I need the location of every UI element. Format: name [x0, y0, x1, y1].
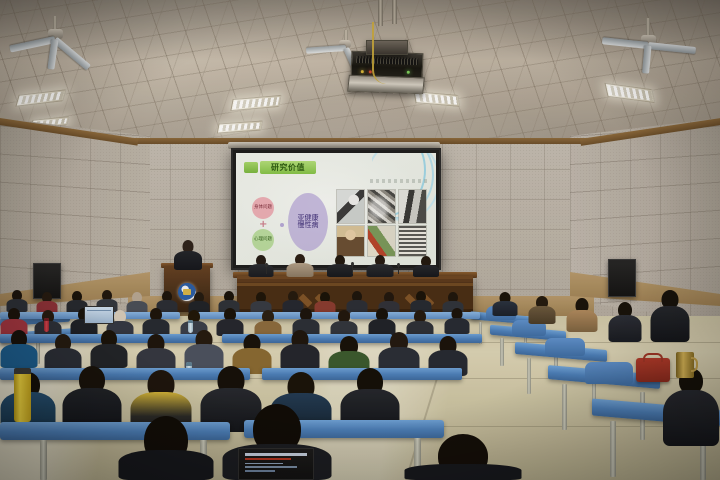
audience-member	[662, 368, 720, 446]
fan-blade	[648, 42, 696, 54]
water-bottle	[44, 318, 49, 332]
wall-speaker-right	[608, 259, 636, 297]
slide-circle-physical: 身体问题	[252, 197, 274, 219]
panelist	[286, 254, 314, 277]
slide-photo	[336, 225, 365, 257]
fan-blade	[9, 36, 55, 52]
audience-member	[90, 330, 128, 368]
water-bottle-yellow	[14, 368, 31, 422]
laptop	[238, 448, 314, 480]
slide-photo	[367, 189, 396, 224]
audience-member	[566, 298, 598, 332]
audience-member	[528, 296, 556, 324]
audience-member	[280, 330, 320, 370]
fan-blade	[306, 45, 346, 54]
projection-screen: 研究价值 身体问题 + 心理问题 亚健康 慢性病	[231, 148, 441, 270]
ceiling-fan-left	[10, 16, 100, 56]
handbag	[636, 358, 670, 382]
table-microphone	[352, 265, 353, 274]
slide-circle-psych: 心理问题	[252, 229, 274, 251]
audience-member	[608, 302, 642, 342]
panelist	[248, 255, 274, 277]
slide-circle-outcome: 亚健康 慢性病	[288, 193, 328, 251]
panelist	[412, 256, 439, 277]
projector-cable	[372, 22, 386, 84]
slide-faint-text-line	[370, 179, 428, 183]
slide-photo	[398, 189, 427, 224]
chair-back	[545, 338, 585, 356]
audience-member	[0, 330, 38, 368]
audience-member-foreground	[404, 434, 522, 480]
slide-photo	[367, 225, 396, 257]
slide-photo	[336, 189, 365, 224]
audience-member	[444, 308, 470, 334]
lecture-hall-photo: 研究价值 身体问题 + 心理问题 亚健康 慢性病	[0, 0, 720, 480]
audience-member	[492, 292, 518, 316]
ceiling-fan-right	[598, 18, 698, 62]
projector-mount-rod	[392, 0, 397, 24]
presenter-body	[174, 251, 202, 270]
chair-back	[585, 362, 633, 384]
slide-title: 研究价值	[260, 161, 316, 174]
slide-connector-dot	[280, 223, 284, 227]
audience-member	[142, 308, 170, 336]
slide-circle-physical-label: 身体问题	[254, 206, 272, 211]
slide-title-text: 研究价值	[271, 162, 305, 173]
panelist	[326, 255, 353, 277]
audience-member	[650, 290, 690, 342]
table-microphone	[266, 266, 267, 274]
projector-tray	[347, 75, 425, 95]
slide-photo	[398, 225, 427, 257]
slide-circle-psych-label: 心理问题	[254, 238, 272, 243]
audience-member-foreground	[118, 416, 214, 480]
laptop	[84, 306, 114, 324]
panelist	[366, 255, 394, 277]
slide-circle-outcome-label: 亚健康 慢性病	[298, 215, 319, 230]
ceiling	[0, 0, 720, 152]
presentation-slide: 研究价值 身体问题 + 心理问题 亚健康 慢性病	[236, 153, 436, 265]
thermos-cup	[676, 352, 694, 378]
slide-tag-icon	[244, 162, 258, 173]
table-microphone	[398, 266, 399, 274]
presenter	[173, 240, 203, 270]
